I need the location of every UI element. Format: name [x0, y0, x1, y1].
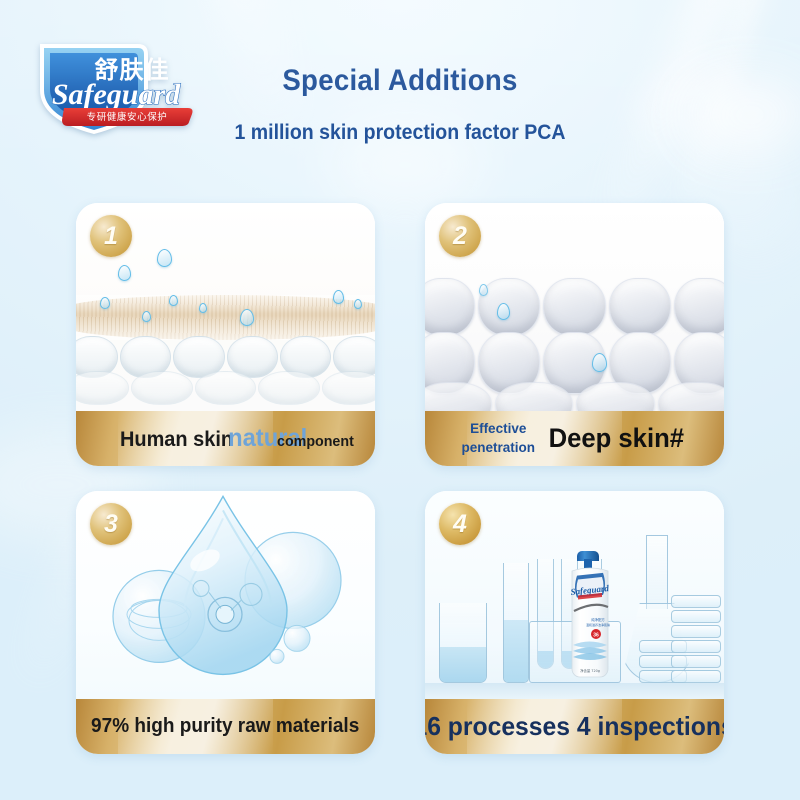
svg-text:纯净配方: 纯净配方 — [591, 617, 605, 622]
card-caption-banner: Effective penetration Deep skin# — [425, 411, 724, 466]
caption-small-line1: Effective — [470, 421, 526, 436]
feature-card-1[interactable]: 1 Human skin natural component — [76, 203, 375, 466]
caption-part-3: component — [277, 433, 354, 450]
svg-text:36: 36 — [593, 633, 599, 639]
feature-card-grid: 1 Human skin natural component 2 — [76, 203, 724, 754]
feature-card-4[interactable]: Safeguard 纯净配方 温和滋养洁净肌肤 36 净含量 720g 4 16 — [425, 491, 724, 754]
card-caption: 16 processes 4 inspections — [425, 711, 724, 742]
card-caption-banner: 97% high purity raw materials — [76, 699, 375, 754]
caption-big: Deep skin# — [549, 423, 684, 454]
card-caption-banner: Human skin natural component — [76, 411, 375, 466]
caption-small-line2: penetration — [461, 440, 535, 455]
page-subtitle: 1 million skin protection factor PCA — [28, 121, 772, 145]
card-number-badge: 1 — [90, 215, 132, 257]
card-caption-banner: 16 processes 4 inspections — [425, 699, 724, 754]
safeguard-bottle: Safeguard 纯净配方 温和滋养洁净肌肤 36 净含量 720g — [564, 533, 616, 683]
card-number-badge: 2 — [439, 215, 481, 257]
svg-text:净含量 720g: 净含量 720g — [580, 668, 600, 673]
card-caption: 97% high purity raw materials — [91, 715, 359, 738]
card-number-badge: 4 — [439, 503, 481, 545]
header-block: Special Additions 1 million skin protect… — [0, 64, 800, 145]
caption-part-1: Human skin — [120, 428, 233, 452]
svg-text:温和滋养洁净肌肤: 温和滋养洁净肌肤 — [586, 622, 610, 627]
page-title: Special Additions — [32, 64, 768, 98]
card-number-badge: 3 — [90, 503, 132, 545]
feature-card-2[interactable]: 2 Effective penetration Deep skin# — [425, 203, 724, 466]
feature-card-3[interactable]: 3 97% high purity raw materials — [76, 491, 375, 754]
